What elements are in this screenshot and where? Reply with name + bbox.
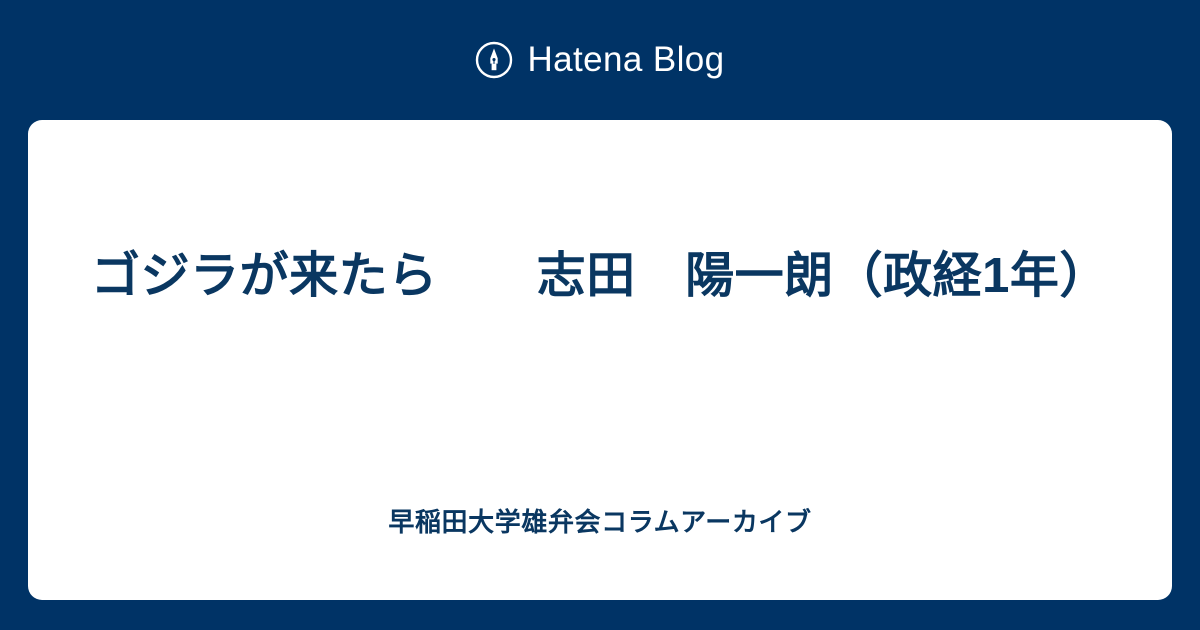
entry-card: ゴジラが来たら 志田 陽一朗（政経1年） 早稲田大学雄弁会コラムアーカイブ	[28, 120, 1172, 600]
hatena-blog-brand-name: Hatena Blog	[527, 41, 724, 79]
hatena-blog-brand-bar: Hatena Blog	[0, 0, 1200, 120]
entry-title: ゴジラが来たら 志田 陽一朗（政経1年）	[88, 238, 1112, 314]
blog-name: 早稲田大学雄弁会コラムアーカイブ	[88, 505, 1112, 539]
ogp-share-card: Hatena Blog ゴジラが来たら 志田 陽一朗（政経1年） 早稲田大学雄弁…	[0, 0, 1200, 630]
hatena-pen-nib-circle-icon	[475, 41, 513, 79]
